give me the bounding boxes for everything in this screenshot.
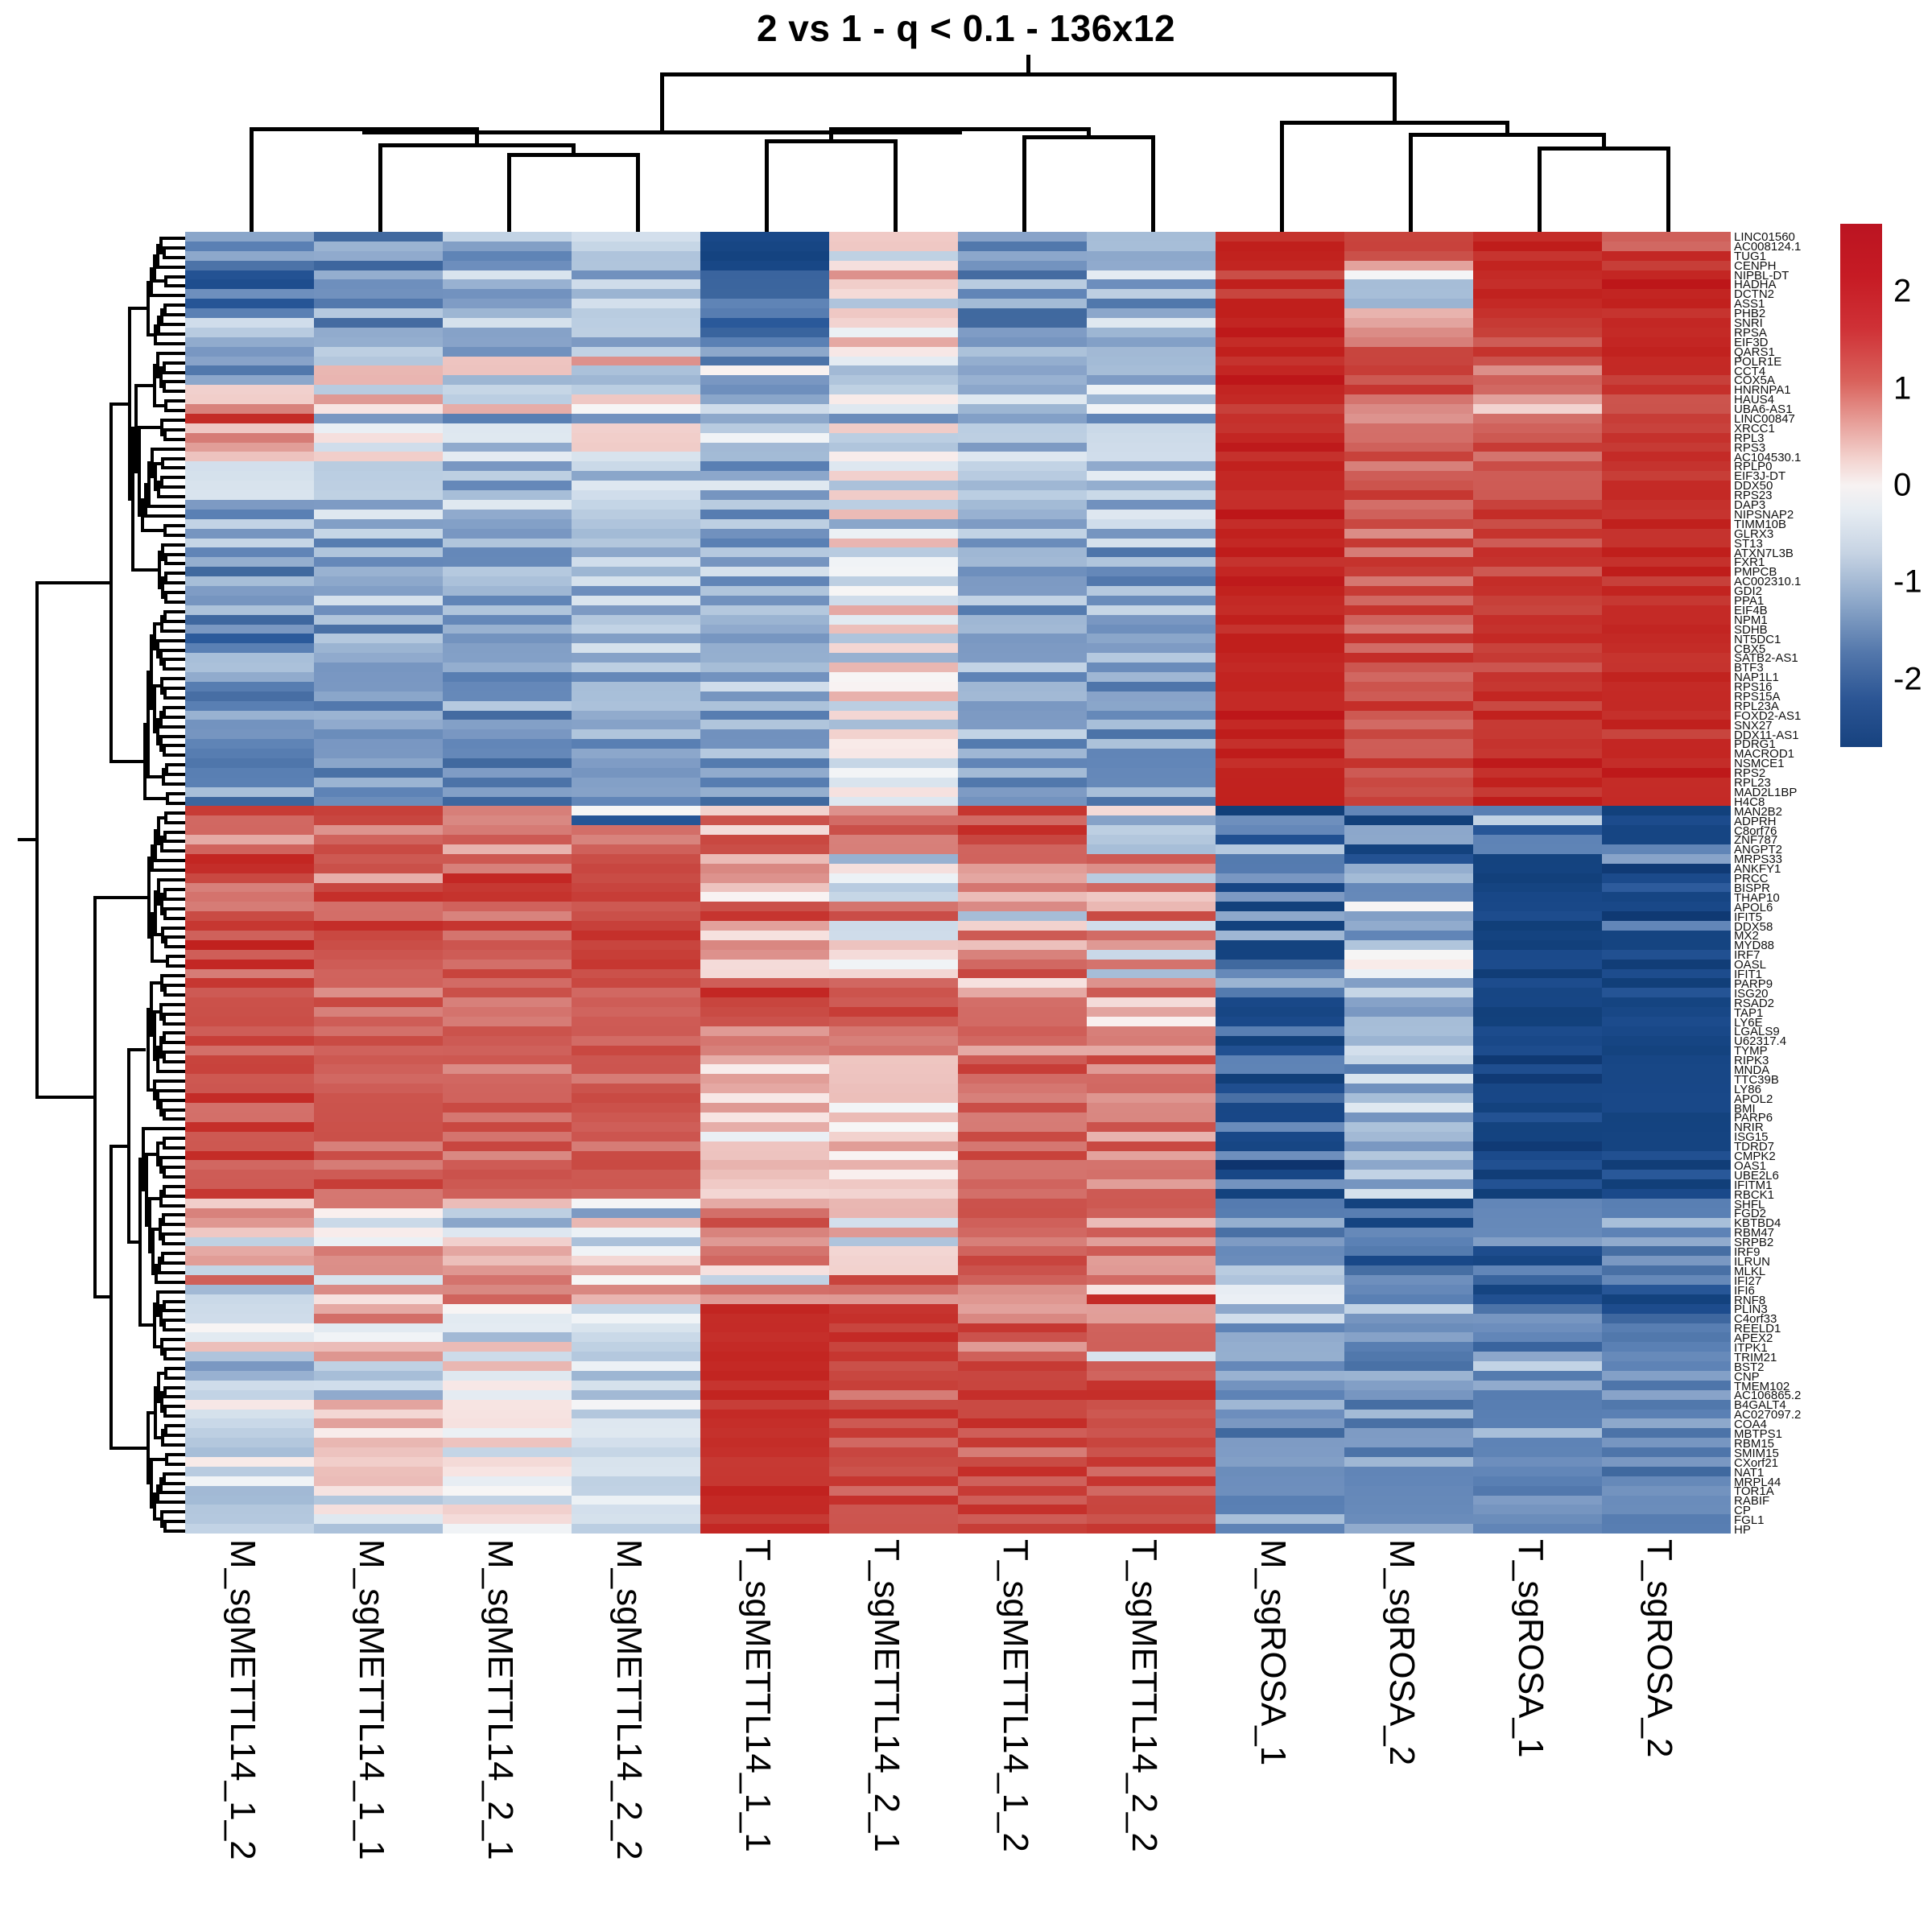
heatmap-cell[interactable]	[572, 653, 700, 663]
heatmap-cell[interactable]	[958, 1285, 1087, 1294]
heatmap-cell[interactable]	[314, 873, 443, 883]
heatmap-cell[interactable]	[1216, 701, 1344, 711]
heatmap-cell[interactable]	[958, 519, 1087, 529]
heatmap-cell[interactable]	[700, 1294, 829, 1304]
heatmap-cell[interactable]	[572, 758, 700, 768]
heatmap-cell[interactable]	[1602, 1189, 1731, 1199]
heatmap-cell[interactable]	[572, 1103, 700, 1113]
heatmap-cell[interactable]	[1087, 1265, 1216, 1275]
heatmap-cell[interactable]	[829, 1304, 958, 1314]
heatmap-cell[interactable]	[1473, 787, 1602, 797]
heatmap-cell[interactable]	[829, 567, 958, 576]
heatmap-cell[interactable]	[700, 643, 829, 653]
heatmap-cell[interactable]	[958, 1103, 1087, 1113]
heatmap-cell[interactable]	[443, 547, 572, 557]
heatmap-cell[interactable]	[1216, 1189, 1344, 1199]
heatmap-cell[interactable]	[1216, 471, 1344, 481]
heatmap-cell[interactable]	[1216, 423, 1344, 433]
heatmap-cell[interactable]	[1473, 357, 1602, 366]
heatmap-cell[interactable]	[958, 615, 1087, 625]
heatmap-cell[interactable]	[700, 701, 829, 711]
heatmap-cell[interactable]	[700, 615, 829, 625]
heatmap-cell[interactable]	[958, 299, 1087, 308]
heatmap-cell[interactable]	[829, 1418, 958, 1428]
heatmap-cell[interactable]	[314, 1275, 443, 1285]
heatmap-cell[interactable]	[572, 1524, 700, 1534]
heatmap-cell[interactable]	[958, 443, 1087, 452]
heatmap-cell[interactable]	[185, 988, 314, 997]
heatmap-cell[interactable]	[314, 1199, 443, 1208]
heatmap-cell[interactable]	[1344, 1410, 1473, 1419]
heatmap-cell[interactable]	[1473, 1160, 1602, 1170]
heatmap-cell[interactable]	[1602, 1275, 1731, 1285]
heatmap-cell[interactable]	[1473, 1064, 1602, 1074]
heatmap-cell[interactable]	[443, 739, 572, 749]
heatmap-cell[interactable]	[185, 902, 314, 911]
heatmap-cell[interactable]	[1473, 1036, 1602, 1046]
heatmap-cell[interactable]	[1473, 691, 1602, 701]
heatmap-cell[interactable]	[185, 758, 314, 768]
heatmap-cell[interactable]	[185, 519, 314, 529]
heatmap-cell[interactable]	[314, 978, 443, 988]
heatmap-cell[interactable]	[443, 576, 572, 586]
heatmap-cell[interactable]	[1087, 978, 1216, 988]
heatmap-cell[interactable]	[572, 1122, 700, 1132]
heatmap-cell[interactable]	[1602, 625, 1731, 634]
heatmap-cell[interactable]	[443, 357, 572, 366]
heatmap-cell[interactable]	[1473, 1438, 1602, 1447]
heatmap-cell[interactable]	[443, 461, 572, 471]
heatmap-cell[interactable]	[1344, 1017, 1473, 1026]
heatmap-cell[interactable]	[1216, 997, 1344, 1007]
heatmap-cell[interactable]	[829, 1323, 958, 1333]
heatmap-cell[interactable]	[185, 1122, 314, 1132]
heatmap-cell[interactable]	[1602, 452, 1731, 461]
heatmap-cell[interactable]	[443, 1505, 572, 1514]
heatmap-cell[interactable]	[443, 749, 572, 758]
heatmap-cell[interactable]	[1216, 988, 1344, 997]
heatmap-cell[interactable]	[185, 1390, 314, 1400]
heatmap-cell[interactable]	[1602, 394, 1731, 404]
heatmap-cell[interactable]	[572, 510, 700, 519]
heatmap-cell[interactable]	[1602, 825, 1731, 835]
heatmap-cell[interactable]	[958, 1093, 1087, 1103]
heatmap-cell[interactable]	[572, 1314, 700, 1323]
heatmap-cell[interactable]	[1087, 1074, 1216, 1084]
heatmap-cell[interactable]	[958, 691, 1087, 701]
heatmap-cell[interactable]	[1087, 1064, 1216, 1074]
heatmap-cell[interactable]	[1602, 1036, 1731, 1046]
heatmap-cell[interactable]	[185, 375, 314, 385]
heatmap-cell[interactable]	[1344, 481, 1473, 490]
heatmap-cell[interactable]	[958, 308, 1087, 318]
heatmap-cell[interactable]	[185, 643, 314, 653]
heatmap-cell[interactable]	[958, 873, 1087, 883]
heatmap-cell[interactable]	[958, 960, 1087, 969]
heatmap-cell[interactable]	[1602, 500, 1731, 510]
heatmap-cell[interactable]	[1216, 328, 1344, 337]
heatmap-cell[interactable]	[185, 835, 314, 844]
heatmap-cell[interactable]	[185, 1381, 314, 1390]
heatmap-cell[interactable]	[829, 768, 958, 778]
heatmap-cell[interactable]	[700, 1486, 829, 1496]
heatmap-cell[interactable]	[443, 1410, 572, 1419]
heatmap-cell[interactable]	[1087, 443, 1216, 452]
heatmap-cell[interactable]	[1602, 232, 1731, 242]
heatmap-cell[interactable]	[1344, 414, 1473, 423]
heatmap-cell[interactable]	[1602, 682, 1731, 691]
heatmap-cell[interactable]	[314, 567, 443, 576]
heatmap-cell[interactable]	[443, 1304, 572, 1314]
heatmap-cell[interactable]	[185, 729, 314, 739]
heatmap-cell[interactable]	[1087, 539, 1216, 548]
heatmap-cell[interactable]	[1087, 423, 1216, 433]
heatmap-cell[interactable]	[1087, 232, 1216, 242]
heatmap-cell[interactable]	[1344, 1084, 1473, 1093]
heatmap-cell[interactable]	[1602, 490, 1731, 500]
heatmap-cell[interactable]	[1344, 1141, 1473, 1151]
heatmap-cell[interactable]	[829, 1352, 958, 1361]
heatmap-cell[interactable]	[1473, 308, 1602, 318]
heatmap-cell[interactable]	[1473, 529, 1602, 539]
heatmap-cell[interactable]	[1473, 605, 1602, 615]
heatmap-cell[interactable]	[1473, 1294, 1602, 1304]
heatmap-cell[interactable]	[443, 701, 572, 711]
heatmap-cell[interactable]	[572, 1371, 700, 1381]
heatmap-cell[interactable]	[958, 357, 1087, 366]
heatmap-cell[interactable]	[958, 461, 1087, 471]
heatmap-cell[interactable]	[185, 586, 314, 596]
heatmap-cell[interactable]	[572, 921, 700, 931]
heatmap-cell[interactable]	[314, 586, 443, 596]
heatmap-cell[interactable]	[1602, 471, 1731, 481]
heatmap-cell[interactable]	[958, 854, 1087, 864]
heatmap-cell[interactable]	[314, 758, 443, 768]
heatmap-cell[interactable]	[1344, 1026, 1473, 1036]
heatmap-cell[interactable]	[185, 797, 314, 807]
heatmap-cell[interactable]	[829, 691, 958, 701]
heatmap-cell[interactable]	[1344, 892, 1473, 902]
heatmap-cell[interactable]	[443, 797, 572, 807]
heatmap-cell[interactable]	[1344, 1103, 1473, 1113]
heatmap-cell[interactable]	[1602, 539, 1731, 548]
heatmap-cell[interactable]	[1216, 711, 1344, 720]
heatmap-cell[interactable]	[314, 911, 443, 921]
heatmap-cell[interactable]	[1216, 768, 1344, 778]
heatmap-cell[interactable]	[1087, 825, 1216, 835]
heatmap-cell[interactable]	[829, 625, 958, 634]
heatmap-cell[interactable]	[443, 1026, 572, 1036]
heatmap-cell[interactable]	[185, 1294, 314, 1304]
heatmap-cell[interactable]	[829, 251, 958, 261]
heatmap-cell[interactable]	[1087, 615, 1216, 625]
heatmap-cell[interactable]	[443, 1285, 572, 1294]
heatmap-cell[interactable]	[314, 261, 443, 270]
heatmap-cell[interactable]	[443, 529, 572, 539]
heatmap-cell[interactable]	[1344, 1390, 1473, 1400]
heatmap-cell[interactable]	[1602, 567, 1731, 576]
heatmap-cell[interactable]	[958, 643, 1087, 653]
heatmap-cell[interactable]	[1087, 1323, 1216, 1333]
heatmap-cell[interactable]	[829, 1467, 958, 1476]
heatmap-cell[interactable]	[1216, 1447, 1344, 1457]
heatmap-cell[interactable]	[958, 1410, 1087, 1419]
heatmap-cell[interactable]	[1087, 864, 1216, 873]
heatmap-cell[interactable]	[1216, 539, 1344, 548]
heatmap-cell[interactable]	[572, 1438, 700, 1447]
heatmap-cell[interactable]	[829, 806, 958, 815]
heatmap-cell[interactable]	[1216, 567, 1344, 576]
heatmap-cell[interactable]	[443, 1256, 572, 1265]
heatmap-cell[interactable]	[958, 596, 1087, 605]
heatmap-cell[interactable]	[829, 797, 958, 807]
heatmap-cell[interactable]	[1087, 1524, 1216, 1534]
heatmap-cell[interactable]	[958, 547, 1087, 557]
heatmap-cell[interactable]	[185, 481, 314, 490]
heatmap-cell[interactable]	[314, 1314, 443, 1323]
heatmap-cell[interactable]	[829, 643, 958, 653]
heatmap-cell[interactable]	[1087, 1113, 1216, 1122]
heatmap-cell[interactable]	[829, 519, 958, 529]
heatmap-cell[interactable]	[700, 1256, 829, 1265]
heatmap-cell[interactable]	[572, 672, 700, 682]
heatmap-cell[interactable]	[1344, 232, 1473, 242]
heatmap-cell[interactable]	[829, 1160, 958, 1170]
heatmap-cell[interactable]	[185, 1476, 314, 1486]
heatmap-cell[interactable]	[314, 1151, 443, 1161]
heatmap-cell[interactable]	[829, 404, 958, 414]
heatmap-cell[interactable]	[958, 1505, 1087, 1514]
heatmap-cell[interactable]	[1344, 500, 1473, 510]
heatmap-cell[interactable]	[1087, 672, 1216, 682]
heatmap-cell[interactable]	[1216, 1160, 1344, 1170]
heatmap-cell[interactable]	[958, 1381, 1087, 1390]
heatmap-cell[interactable]	[700, 940, 829, 950]
heatmap-cell[interactable]	[1344, 1151, 1473, 1161]
heatmap-cell[interactable]	[1602, 1179, 1731, 1189]
heatmap-cell[interactable]	[700, 1352, 829, 1361]
heatmap-cell[interactable]	[1602, 1505, 1731, 1514]
heatmap-cell[interactable]	[1344, 778, 1473, 787]
heatmap-cell[interactable]	[443, 1189, 572, 1199]
heatmap-cell[interactable]	[314, 682, 443, 691]
heatmap-cell[interactable]	[829, 1524, 958, 1534]
heatmap-cell[interactable]	[443, 1084, 572, 1093]
heatmap-cell[interactable]	[700, 232, 829, 242]
heatmap-cell[interactable]	[1344, 1467, 1473, 1476]
heatmap-cell[interactable]	[829, 1026, 958, 1036]
heatmap-cell[interactable]	[1216, 1017, 1344, 1026]
heatmap-cell[interactable]	[1087, 778, 1216, 787]
heatmap-cell[interactable]	[185, 1179, 314, 1189]
heatmap-cell[interactable]	[829, 844, 958, 854]
heatmap-cell[interactable]	[1087, 1294, 1216, 1304]
heatmap-cell[interactable]	[1602, 1428, 1731, 1438]
heatmap-cell[interactable]	[572, 1093, 700, 1103]
heatmap-cell[interactable]	[1087, 1467, 1216, 1476]
heatmap-cell[interactable]	[572, 1007, 700, 1017]
heatmap-cell[interactable]	[314, 1246, 443, 1256]
heatmap-cell[interactable]	[1216, 1438, 1344, 1447]
heatmap-cell[interactable]	[1216, 653, 1344, 663]
heatmap-cell[interactable]	[700, 481, 829, 490]
heatmap-cell[interactable]	[185, 1208, 314, 1218]
heatmap-cell[interactable]	[314, 1256, 443, 1265]
heatmap-cell[interactable]	[572, 529, 700, 539]
heatmap-cell[interactable]	[314, 1074, 443, 1084]
heatmap-cell[interactable]	[1602, 519, 1731, 529]
heatmap-cell[interactable]	[314, 519, 443, 529]
heatmap-cell[interactable]	[1087, 911, 1216, 921]
heatmap-cell[interactable]	[1473, 242, 1602, 251]
heatmap-cell[interactable]	[314, 1218, 443, 1228]
heatmap-cell[interactable]	[1344, 557, 1473, 567]
heatmap-cell[interactable]	[958, 815, 1087, 825]
heatmap-cell[interactable]	[829, 1036, 958, 1046]
heatmap-cell[interactable]	[700, 423, 829, 433]
heatmap-cell[interactable]	[700, 691, 829, 701]
heatmap-cell[interactable]	[572, 960, 700, 969]
heatmap-cell[interactable]	[185, 1199, 314, 1208]
heatmap-cell[interactable]	[572, 232, 700, 242]
heatmap-cell[interactable]	[314, 1122, 443, 1132]
heatmap-cell[interactable]	[443, 1064, 572, 1074]
heatmap-cell[interactable]	[700, 596, 829, 605]
heatmap-cell[interactable]	[1344, 1179, 1473, 1189]
heatmap-cell[interactable]	[1473, 1514, 1602, 1524]
heatmap-cell[interactable]	[443, 1514, 572, 1524]
heatmap-cell[interactable]	[1602, 1084, 1731, 1093]
heatmap-cell[interactable]	[1473, 1323, 1602, 1333]
heatmap-cell[interactable]	[1216, 414, 1344, 423]
heatmap-cell[interactable]	[1473, 1055, 1602, 1065]
heatmap-cell[interactable]	[185, 711, 314, 720]
heatmap-cell[interactable]	[185, 1457, 314, 1467]
heatmap-cell[interactable]	[314, 423, 443, 433]
heatmap-cell[interactable]	[1216, 1524, 1344, 1534]
heatmap-cell[interactable]	[1344, 1007, 1473, 1017]
heatmap-cell[interactable]	[572, 1151, 700, 1161]
heatmap-cell[interactable]	[829, 576, 958, 586]
heatmap-cell[interactable]	[1216, 365, 1344, 375]
heatmap-cell[interactable]	[829, 758, 958, 768]
heatmap-cell[interactable]	[1473, 1418, 1602, 1428]
heatmap-cell[interactable]	[443, 414, 572, 423]
heatmap-cell[interactable]	[958, 797, 1087, 807]
heatmap-cell[interactable]	[572, 394, 700, 404]
heatmap-cell[interactable]	[185, 1332, 314, 1342]
heatmap-cell[interactable]	[1602, 739, 1731, 749]
heatmap-cell[interactable]	[1087, 815, 1216, 825]
heatmap-cell[interactable]	[1087, 1505, 1216, 1514]
heatmap-cell[interactable]	[958, 365, 1087, 375]
heatmap-cell[interactable]	[314, 443, 443, 452]
heatmap-cell[interactable]	[314, 481, 443, 490]
heatmap-cell[interactable]	[1216, 1371, 1344, 1381]
heatmap-cell[interactable]	[443, 539, 572, 548]
heatmap-cell[interactable]	[1087, 299, 1216, 308]
heatmap-cell[interactable]	[700, 797, 829, 807]
heatmap-cell[interactable]	[572, 778, 700, 787]
heatmap-cell[interactable]	[443, 1074, 572, 1084]
heatmap-cell[interactable]	[1216, 519, 1344, 529]
heatmap-cell[interactable]	[572, 1418, 700, 1428]
heatmap-cell[interactable]	[443, 452, 572, 461]
heatmap-cell[interactable]	[1473, 461, 1602, 471]
heatmap-cell[interactable]	[1344, 1265, 1473, 1275]
heatmap-cell[interactable]	[1344, 806, 1473, 815]
heatmap-cell[interactable]	[1216, 672, 1344, 682]
heatmap-cell[interactable]	[958, 1428, 1087, 1438]
heatmap-cell[interactable]	[314, 1093, 443, 1103]
heatmap-cell[interactable]	[572, 711, 700, 720]
heatmap-cell[interactable]	[700, 749, 829, 758]
heatmap-cell[interactable]	[314, 625, 443, 634]
heatmap-cell[interactable]	[1602, 1228, 1731, 1237]
heatmap-cell[interactable]	[829, 778, 958, 787]
heatmap-cell[interactable]	[958, 1438, 1087, 1447]
heatmap-cell[interactable]	[443, 328, 572, 337]
heatmap-cell[interactable]	[314, 1132, 443, 1141]
heatmap-cell[interactable]	[1473, 988, 1602, 997]
heatmap-cell[interactable]	[1344, 1428, 1473, 1438]
heatmap-cell[interactable]	[1602, 365, 1731, 375]
heatmap-cell[interactable]	[1473, 844, 1602, 854]
heatmap-cell[interactable]	[1602, 1390, 1731, 1400]
heatmap-cell[interactable]	[185, 1265, 314, 1275]
heatmap-cell[interactable]	[1087, 1237, 1216, 1247]
heatmap-cell[interactable]	[185, 672, 314, 682]
heatmap-cell[interactable]	[958, 242, 1087, 251]
heatmap-cell[interactable]	[1216, 347, 1344, 357]
heatmap-cell[interactable]	[700, 547, 829, 557]
heatmap-cell[interactable]	[185, 490, 314, 500]
heatmap-cell[interactable]	[1602, 510, 1731, 519]
heatmap-cell[interactable]	[829, 347, 958, 357]
heatmap-cell[interactable]	[1344, 1352, 1473, 1361]
heatmap-cell[interactable]	[185, 308, 314, 318]
heatmap-cell[interactable]	[700, 864, 829, 873]
heatmap-cell[interactable]	[1344, 701, 1473, 711]
heatmap-cell[interactable]	[829, 1265, 958, 1275]
heatmap-cell[interactable]	[443, 969, 572, 979]
heatmap-cell[interactable]	[1602, 797, 1731, 807]
heatmap-cell[interactable]	[700, 1199, 829, 1208]
heatmap-cell[interactable]	[443, 1352, 572, 1361]
heatmap-cell[interactable]	[1087, 1132, 1216, 1141]
heatmap-cell[interactable]	[314, 500, 443, 510]
heatmap-cell[interactable]	[443, 1381, 572, 1390]
heatmap-cell[interactable]	[829, 711, 958, 720]
heatmap-cell[interactable]	[958, 978, 1087, 988]
heatmap-cell[interactable]	[829, 365, 958, 375]
heatmap-cell[interactable]	[572, 1246, 700, 1256]
heatmap-cell[interactable]	[1216, 921, 1344, 931]
heatmap-cell[interactable]	[700, 1218, 829, 1228]
heatmap-cell[interactable]	[185, 1410, 314, 1419]
heatmap-cell[interactable]	[958, 739, 1087, 749]
heatmap-cell[interactable]	[443, 1208, 572, 1218]
heatmap-cell[interactable]	[314, 490, 443, 500]
heatmap-cell[interactable]	[1344, 883, 1473, 893]
heatmap-cell[interactable]	[572, 1256, 700, 1265]
heatmap-cell[interactable]	[572, 1017, 700, 1026]
heatmap-cell[interactable]	[185, 691, 314, 701]
heatmap-cell[interactable]	[185, 365, 314, 375]
heatmap-cell[interactable]	[1602, 749, 1731, 758]
heatmap-cell[interactable]	[185, 1093, 314, 1103]
heatmap-cell[interactable]	[1087, 1084, 1216, 1093]
